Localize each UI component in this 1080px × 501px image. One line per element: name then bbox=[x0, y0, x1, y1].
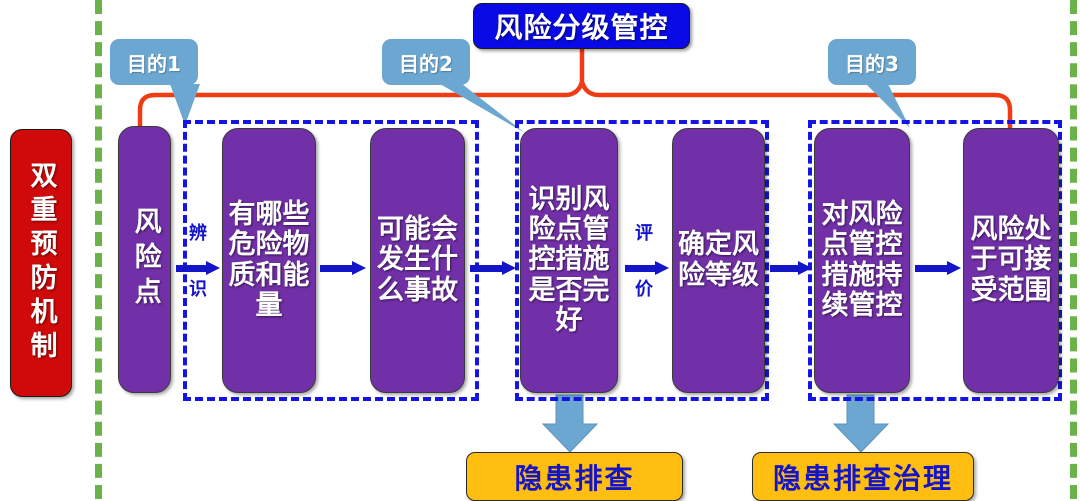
flow-arrow-6 bbox=[915, 261, 961, 275]
callout-purpose-1-label: 目的1 bbox=[127, 48, 181, 77]
process-box-risk-point-label: 风险点 bbox=[129, 207, 159, 312]
flow-arrow-1 bbox=[176, 261, 220, 275]
scope-divider-left bbox=[95, 0, 102, 499]
scope-divider-right bbox=[1070, 0, 1077, 499]
bottom-box-hazard-treatment-label: 隐患排查治理 bbox=[773, 457, 953, 497]
flow-arrow-4 bbox=[625, 261, 669, 275]
stage-label-evaluation-top: 评 bbox=[631, 225, 657, 244]
process-box-acceptable-range-label: 风险处于可接受范围 bbox=[967, 215, 1055, 306]
flow-arrow-3 bbox=[470, 261, 516, 275]
up-arrow-hazard-investigation bbox=[543, 395, 597, 452]
callout-purpose-3[interactable]: 目的3 bbox=[828, 39, 916, 85]
process-box-hazard-substances-label: 有哪些危险物质和能量 bbox=[226, 200, 312, 321]
process-box-determine-level[interactable]: 确定风险等级 bbox=[672, 128, 765, 393]
flow-arrow-2 bbox=[320, 261, 366, 275]
callout-purpose-3-label: 目的3 bbox=[845, 48, 899, 77]
dual-prevention-banner-label: 双重预防机制 bbox=[28, 161, 55, 365]
bottom-box-hazard-investigation[interactable]: 隐患排查 bbox=[466, 452, 683, 501]
callout-purpose-2[interactable]: 目的2 bbox=[382, 39, 470, 85]
flow-arrow-5 bbox=[770, 261, 812, 275]
process-box-determine-level-label: 确定风险等级 bbox=[676, 230, 761, 290]
process-box-possible-accident-label: 可能会发生什么事故 bbox=[374, 215, 461, 306]
stage-label-evaluation-bottom: 价 bbox=[631, 281, 657, 300]
process-box-identify-controls-label: 识别风险点管控措施是否完好 bbox=[524, 185, 614, 336]
bottom-box-hazard-investigation-label: 隐患排查 bbox=[514, 457, 634, 497]
up-arrow-hazard-treatment bbox=[834, 395, 888, 452]
process-box-identify-controls[interactable]: 识别风险点管控措施是否完好 bbox=[520, 128, 618, 393]
callout-purpose-1[interactable]: 目的1 bbox=[110, 39, 198, 85]
process-box-acceptable-range[interactable]: 风险处于可接受范围 bbox=[963, 128, 1059, 393]
diagram-title-label: 风险分级管控 bbox=[494, 6, 668, 46]
stage-label-identification-bottom: 识 bbox=[185, 281, 211, 300]
process-box-risk-point[interactable]: 风险点 bbox=[118, 126, 171, 393]
diagram-title: 风险分级管控 bbox=[473, 3, 690, 49]
callout-1-tail bbox=[170, 84, 200, 125]
process-box-continuous-control[interactable]: 对风险点管控措施持续管控 bbox=[814, 128, 910, 393]
process-box-possible-accident[interactable]: 可能会发生什么事故 bbox=[370, 128, 465, 393]
callout-purpose-2-label: 目的2 bbox=[399, 48, 453, 77]
bottom-box-hazard-treatment[interactable]: 隐患排查治理 bbox=[752, 452, 974, 501]
process-box-continuous-control-label: 对风险点管控措施持续管控 bbox=[818, 200, 906, 321]
dual-prevention-banner: 双重预防机制 bbox=[10, 129, 72, 397]
diagram-canvas: 风险分级管控 目的1 目的2 目的3 双重预防机制 风险点 有哪些危险物质和能量… bbox=[0, 0, 1080, 499]
process-box-hazard-substances[interactable]: 有哪些危险物质和能量 bbox=[222, 128, 316, 393]
stage-label-identification-top: 辨 bbox=[185, 225, 211, 244]
